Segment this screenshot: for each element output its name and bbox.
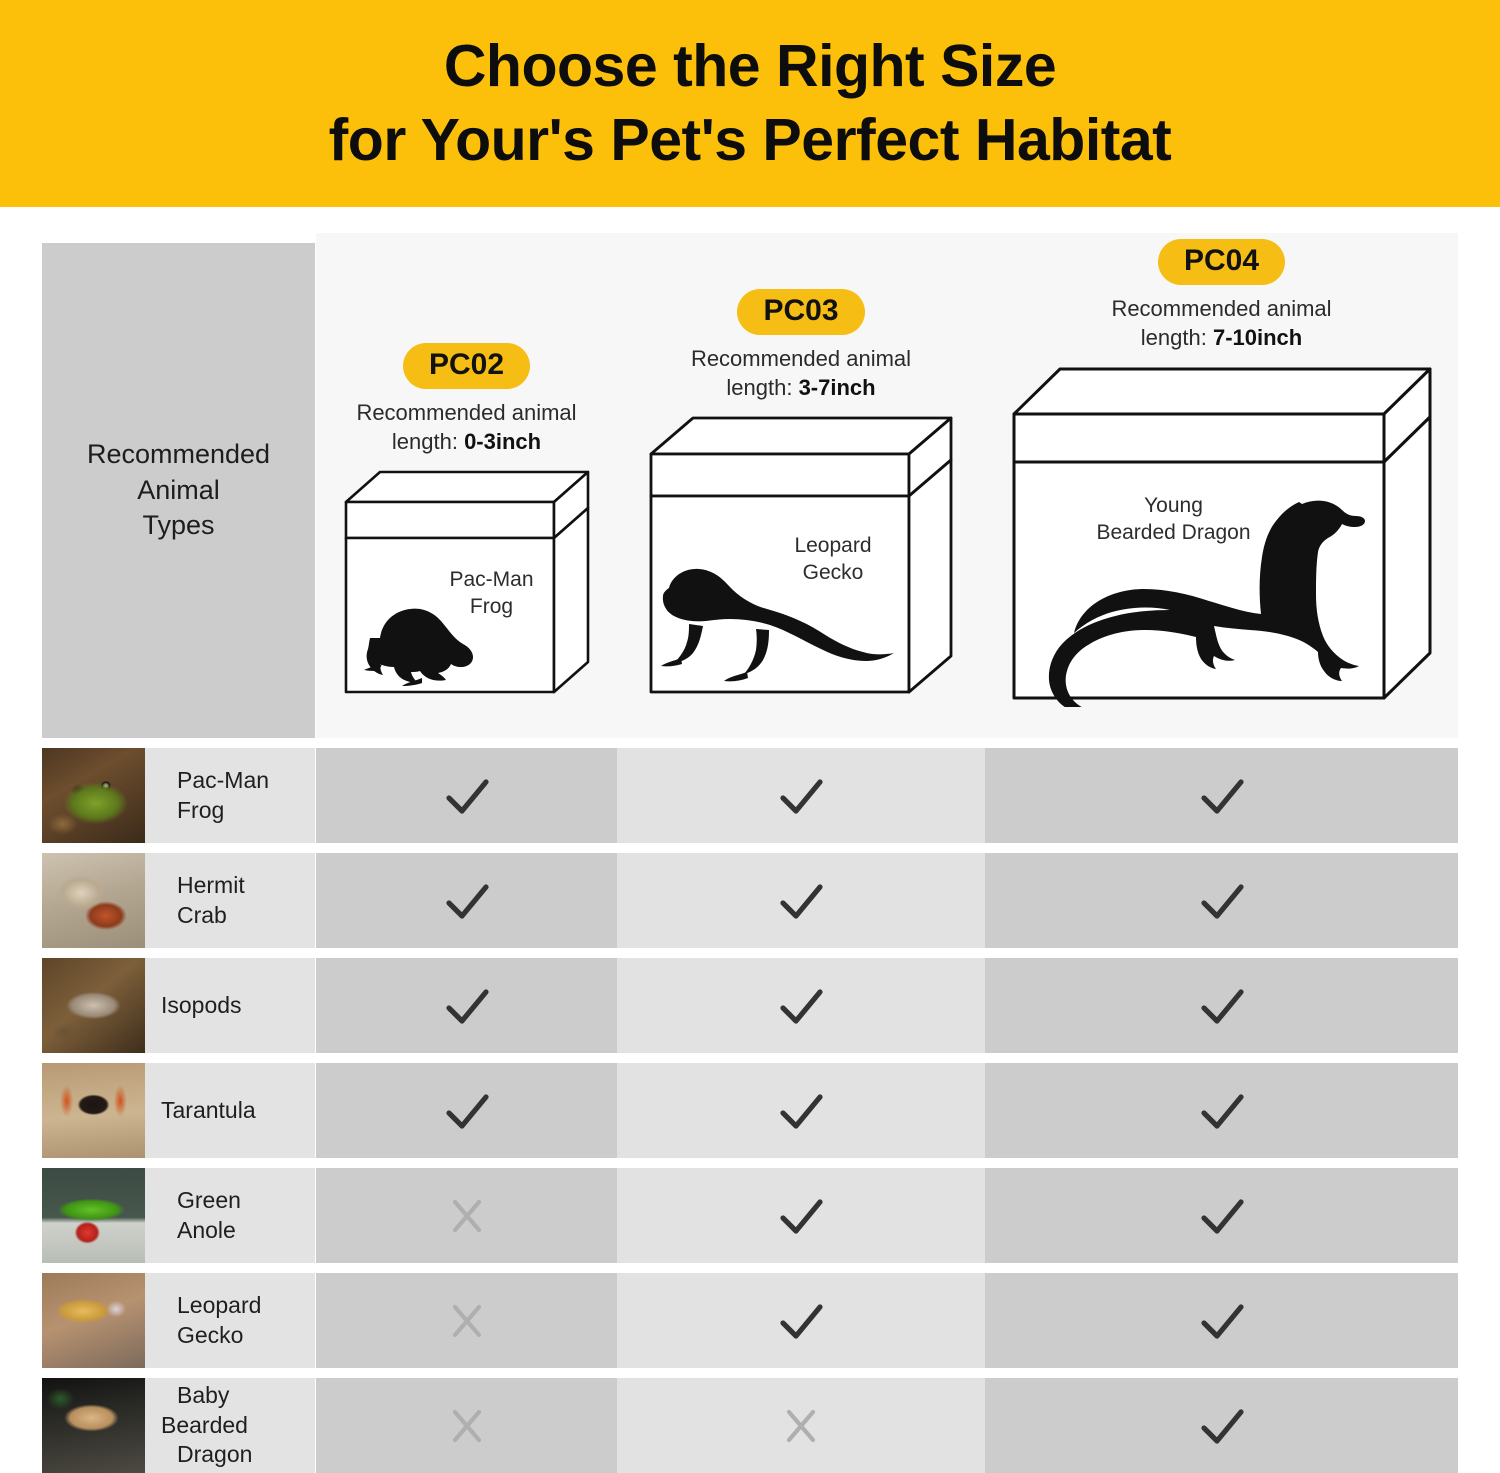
enclosure-illustration-pc02: Pac-Man Frog [336,466,598,699]
product-column-pc04: PC04 Recommended animal length: 7-10inch [985,239,1458,707]
cell-pc03-row-2[interactable] [617,958,985,1053]
cell-pc04-row-5[interactable] [985,1273,1458,1368]
cross-icon [438,1292,496,1350]
illustration-panel: PC02 Recommended animal length: 0-3inch [316,233,1458,738]
row-header-line-3: Types [142,510,214,540]
cell-pc03-row-6[interactable] [617,1378,985,1473]
animal-thumbnail-1 [42,853,145,948]
check-icon [1193,1082,1251,1140]
rec-prefix-pc03: Recommended animal [691,346,911,371]
recommended-length-pc04: Recommended animal length: 7-10inch [985,294,1458,352]
animal-name-cell-1: HermitCrab [145,853,315,948]
rec-label-pc02: length: [392,429,464,454]
check-icon [772,872,830,930]
row-header-title: Recommended Animal Types [87,437,270,544]
banner-title-line-1: Choose the Right Size [444,30,1056,103]
cell-pc03-row-4[interactable] [617,1168,985,1263]
cell-pc03-row-3[interactable] [617,1063,985,1158]
check-icon [438,872,496,930]
cross-icon [438,1397,496,1455]
check-icon [438,767,496,825]
check-icon [1193,1187,1251,1245]
row-header-line-1: Recommended [87,439,270,469]
cell-pc04-row-0[interactable] [985,748,1458,843]
animal-name-2: Isopods [145,991,242,1020]
animal-name-cell-0: Pac-ManFrog [145,748,315,843]
animal-name-6: Baby BeardedDragon [145,1381,315,1469]
product-badge-pc04: PC04 [1158,239,1285,285]
animal-name-cell-3: Tarantula [145,1063,315,1158]
animal-thumbnail-4 [42,1168,145,1263]
check-icon [1193,977,1251,1035]
check-icon [772,767,830,825]
banner-title-line-2: for Your's Pet's Perfect Habitat [329,104,1172,177]
cell-pc02-row-5[interactable] [316,1273,617,1368]
animal-name-cell-4: GreenAnole [145,1168,315,1263]
recommended-length-pc02: Recommended animal length: 0-3inch [316,398,617,456]
page-banner: Choose the Right Size for Your's Pet's P… [0,0,1500,207]
product-column-pc03: PC03 Recommended animal length: 3-7inch [617,289,985,700]
animal-name-cell-2: Isopods [145,958,315,1053]
comparison-infographic: Choose the Right Size for Your's Pet's P… [0,0,1500,1469]
check-icon [772,1082,830,1140]
row-header-cell: Recommended Animal Types [42,243,315,738]
check-icon [1193,1292,1251,1350]
cross-icon [438,1187,496,1245]
row-header-line-2: Animal [137,475,220,505]
rec-value-pc04: 7-10inch [1213,325,1302,350]
check-icon [1193,767,1251,825]
rec-value-pc02: 0-3inch [464,429,541,454]
check-icon [1193,1397,1251,1455]
animal-name-5: LeopardGecko [145,1291,261,1350]
animal-name-4: GreenAnole [145,1186,241,1245]
product-badge-pc03: PC03 [737,289,864,335]
animal-name-0: Pac-ManFrog [145,766,269,825]
rec-prefix-pc02: Recommended animal [356,400,576,425]
rec-value-pc03: 3-7inch [799,375,876,400]
cell-pc04-row-3[interactable] [985,1063,1458,1158]
animal-name-cell-6: Baby BeardedDragon [145,1378,315,1473]
animal-thumbnail-0 [42,748,145,843]
enclosure-illustration-pc04: Young Bearded Dragon [1002,362,1442,707]
cell-pc02-row-4[interactable] [316,1168,617,1263]
product-badge-pc02: PC02 [403,343,530,389]
cell-pc03-row-1[interactable] [617,853,985,948]
check-icon [438,977,496,1035]
enclosure-illustration-pc03: Leopard Gecko [641,412,961,700]
rec-label-pc03: length: [726,375,798,400]
rec-prefix-pc04: Recommended animal [1111,296,1331,321]
animal-thumbnail-2 [42,958,145,1053]
cell-pc03-row-5[interactable] [617,1273,985,1368]
product-column-pc02: PC02 Recommended animal length: 0-3inch [316,343,617,699]
check-icon [1193,872,1251,930]
animal-name-3: Tarantula [145,1096,256,1125]
cell-pc04-row-4[interactable] [985,1168,1458,1263]
rec-label-pc04: length: [1141,325,1213,350]
animal-thumbnail-6 [42,1378,145,1473]
cell-pc02-row-6[interactable] [316,1378,617,1473]
cell-pc02-row-3[interactable] [316,1063,617,1158]
animal-thumbnail-5 [42,1273,145,1368]
cell-pc02-row-2[interactable] [316,958,617,1053]
check-icon [772,977,830,1035]
cell-pc04-row-1[interactable] [985,853,1458,948]
cross-icon [772,1397,830,1455]
check-icon [772,1187,830,1245]
cell-pc02-row-1[interactable] [316,853,617,948]
animal-thumbnail-3 [42,1063,145,1158]
check-icon [438,1082,496,1140]
cell-pc04-row-2[interactable] [985,958,1458,1053]
cell-pc02-row-0[interactable] [316,748,617,843]
animal-name-cell-5: LeopardGecko [145,1273,315,1368]
check-icon [772,1292,830,1350]
recommended-length-pc03: Recommended animal length: 3-7inch [617,344,985,402]
animal-name-1: HermitCrab [145,871,245,930]
cell-pc03-row-0[interactable] [617,748,985,843]
cell-pc04-row-6[interactable] [985,1378,1458,1473]
